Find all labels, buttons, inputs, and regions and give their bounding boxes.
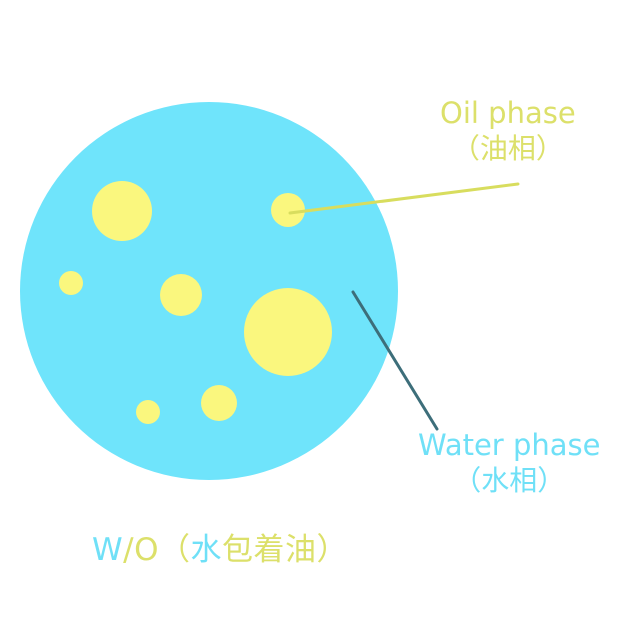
oil-droplet xyxy=(244,288,332,376)
caption-slash-o: /O xyxy=(123,532,159,568)
oil-droplet xyxy=(136,400,160,424)
caption-w: W xyxy=(92,532,123,568)
oil-phase-label-en: Oil phase xyxy=(440,96,576,130)
emulsion-diagram: Oil phase （油相） Water phase （水相） W/O（水包着油… xyxy=(0,0,640,640)
oil-droplet xyxy=(59,271,83,295)
oil-phase-label-cn: （油相） xyxy=(440,132,576,165)
caption: W/O（水包着油） xyxy=(92,532,348,569)
oil-phase-label: Oil phase （油相） xyxy=(440,96,576,165)
caption-baozheyou: 包着油） xyxy=(222,532,348,568)
water-phase-label-en: Water phase xyxy=(418,428,600,462)
caption-paren-open: （ xyxy=(159,532,191,568)
oil-droplet xyxy=(92,181,152,241)
oil-droplet xyxy=(160,274,202,316)
water-phase-label-cn: （水相） xyxy=(418,464,600,497)
water-phase-label: Water phase （水相） xyxy=(418,428,600,497)
oil-droplet xyxy=(201,385,237,421)
oil-droplet-labeled xyxy=(271,193,305,227)
caption-shui: 水 xyxy=(191,532,223,568)
